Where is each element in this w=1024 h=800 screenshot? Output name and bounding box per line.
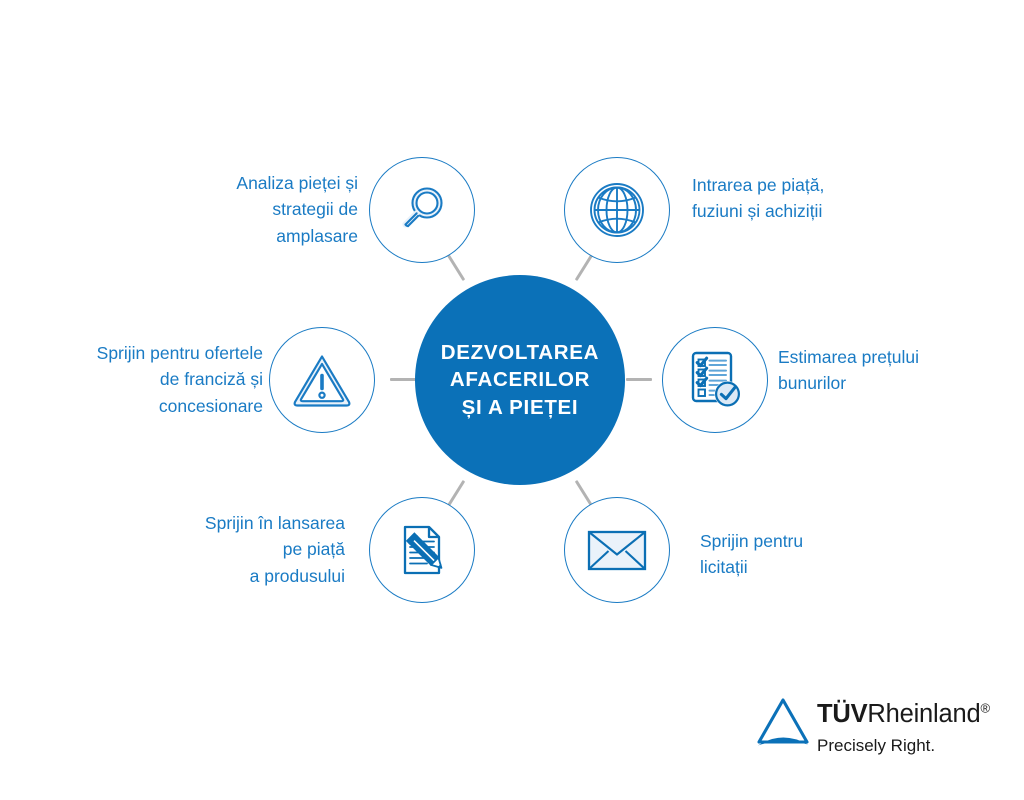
logo-registered-mark: ® xyxy=(980,701,989,716)
magnifier-icon xyxy=(393,181,451,239)
hub-title: DEZVOLTAREA AFACERILOR ȘI A PIEȚEI xyxy=(441,339,599,421)
label-product-launch: Sprijin în lansarea pe piață a produsulu… xyxy=(105,510,345,589)
warning-triangle-icon xyxy=(290,351,354,409)
node-market-entry[interactable] xyxy=(564,157,670,263)
infographic-canvas: DEZVOLTAREA AFACERILOR ȘI A PIEȚEI Anali… xyxy=(0,0,1024,800)
node-franchise-support[interactable] xyxy=(269,327,375,433)
node-price-estimation[interactable] xyxy=(662,327,768,433)
envelope-icon xyxy=(586,526,648,574)
tuv-rheinland-logo: TÜVRheinland® Precisely Right. xyxy=(755,695,995,767)
checklist-document-icon xyxy=(683,349,747,411)
globe-icon xyxy=(586,179,648,241)
logo-brand-regular: Rheinland xyxy=(867,700,980,728)
document-pencil-icon xyxy=(391,519,453,581)
label-franchise-support: Sprijin pentru ofertele de franciză și c… xyxy=(10,340,263,419)
connector-hub-to-market-analysis xyxy=(447,254,465,281)
tuv-triangle-icon xyxy=(755,697,811,749)
label-market-entry: Intrarea pe piață, fuziuni și achiziții xyxy=(692,172,952,225)
logo-brand-bold: TÜV xyxy=(817,700,867,728)
connector-hub-to-market-entry xyxy=(575,254,593,281)
logo-tagline: Precisely Right. xyxy=(817,736,935,756)
label-market-analysis: Analiza pieței și strategii de amplasare xyxy=(110,170,358,249)
label-tender-support: Sprijin pentru licitații xyxy=(700,528,930,581)
logo-wordmark: TÜVRheinland® xyxy=(817,700,990,729)
node-product-launch[interactable] xyxy=(369,497,475,603)
node-market-analysis[interactable] xyxy=(369,157,475,263)
connector-hub-to-product-launch xyxy=(447,480,465,507)
connector-hub-to-franchise-support xyxy=(390,378,416,381)
label-price-estimation: Estimarea prețului bunurilor xyxy=(778,344,1014,397)
hub-circle[interactable]: DEZVOLTAREA AFACERILOR ȘI A PIEȚEI xyxy=(415,275,625,485)
connector-hub-to-price-estimation xyxy=(626,378,652,381)
node-tender-support[interactable] xyxy=(564,497,670,603)
